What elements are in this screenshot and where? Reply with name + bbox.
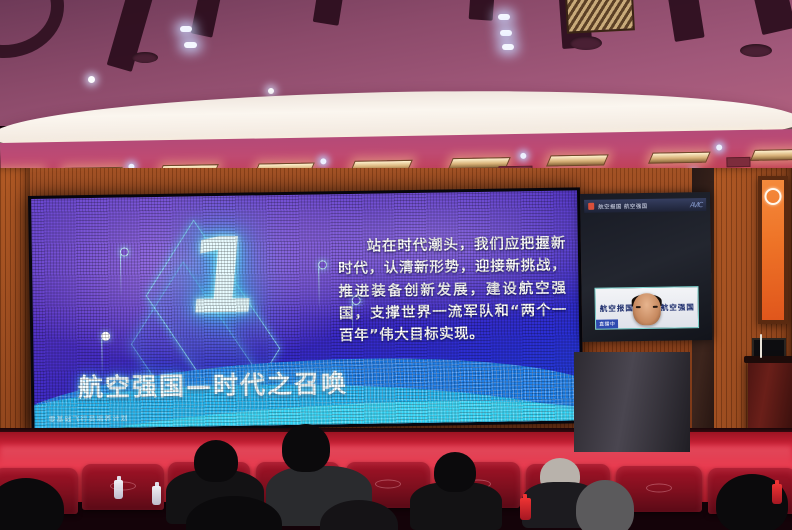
attendee-head: [434, 452, 476, 492]
ceiling-air-vent: [565, 0, 635, 34]
wall-wash-light: [648, 152, 711, 164]
app-icon: [588, 203, 594, 210]
slide-watermark: 零基础飞行员培养计划: [48, 413, 128, 424]
banner-emblem-icon: [765, 188, 782, 205]
wood-wall-panel-left: [0, 168, 30, 438]
slide-canvas: 1 航空强国—时代之召唤 站在时代潮头，我们应把握新时代，认清新形势，迎接新挑战…: [31, 190, 581, 429]
ceiling-light-strip: [502, 44, 514, 50]
ceiling-beam: [313, 0, 346, 26]
ceiling-beam: [469, 0, 496, 21]
podium: [748, 360, 792, 434]
video-thumbnail[interactable]: 航空报国 航空强国 直播中: [594, 286, 699, 330]
attendee-head: [194, 440, 238, 482]
wall-wash-light: [750, 149, 792, 161]
ceiling-speaker: [570, 36, 602, 50]
wall-wash-light: [546, 154, 609, 166]
side-monitor: 航空报国 航空强国 AVIC 航空报国 航空强国 直播中: [580, 192, 712, 342]
ceiling-light-strip: [498, 14, 510, 20]
ceiling-light-strip: [500, 30, 512, 36]
ceiling-spotlight: [268, 88, 274, 94]
speaker-face: [633, 293, 661, 325]
slide-title: 航空强国—时代之召唤: [78, 364, 349, 404]
attendee-head-foreground: [576, 480, 634, 530]
side-monitor-title: 航空报国 航空强国: [598, 201, 647, 210]
podium-desktop: [744, 356, 792, 363]
podium-microphone: [760, 334, 762, 358]
ceiling-light-strip: [180, 26, 192, 32]
wall-spotlight: [716, 144, 722, 150]
video-caption-right: 航空强国: [661, 302, 695, 314]
ceiling-spotlight: [88, 76, 95, 83]
ceiling-beam: [665, 0, 704, 42]
drink-cup: [520, 498, 531, 520]
wall-spotlight: [520, 153, 526, 159]
slide-paragraph: 站在时代潮头，我们应把握新时代，认清新形势，迎接新挑战，推进装备创新发展，建设航…: [338, 233, 568, 348]
ceiling-speaker: [740, 44, 772, 57]
ceiling-beam: [750, 0, 792, 35]
video-caption-left: 航空报国: [600, 303, 634, 315]
water-bottle: [114, 480, 123, 499]
slide-section-number: 1: [182, 223, 264, 328]
ceiling-light-strip: [184, 42, 197, 48]
led-presentation-screen: 1 航空强国—时代之召唤 站在时代潮头，我们应把握新时代，认清新形势，迎接新挑战…: [28, 187, 584, 432]
ceiling-speaker: [132, 52, 158, 63]
ceiling-arc-beam: [0, 0, 64, 58]
brand-logo-icon: AVIC: [690, 201, 702, 209]
wall-spotlight: [320, 158, 326, 164]
ceiling-beam: [191, 0, 224, 38]
water-bottle: [152, 486, 161, 505]
wall-vent-grille: [726, 157, 750, 167]
wall-banner: [758, 176, 788, 324]
auditorium-photo: 1 航空强国—时代之召唤 站在时代潮头，我们应把握新时代，认清新形势，迎接新挑战…: [0, 0, 792, 530]
speaker-eye: [636, 306, 641, 308]
side-monitor-titlebar: 航空报国 航空强国 AVIC: [584, 198, 706, 213]
drink-cup: [772, 484, 782, 504]
attendee-head: [282, 424, 330, 472]
stage-right-pillar: [574, 352, 690, 452]
live-badge: 直播中: [596, 319, 618, 328]
